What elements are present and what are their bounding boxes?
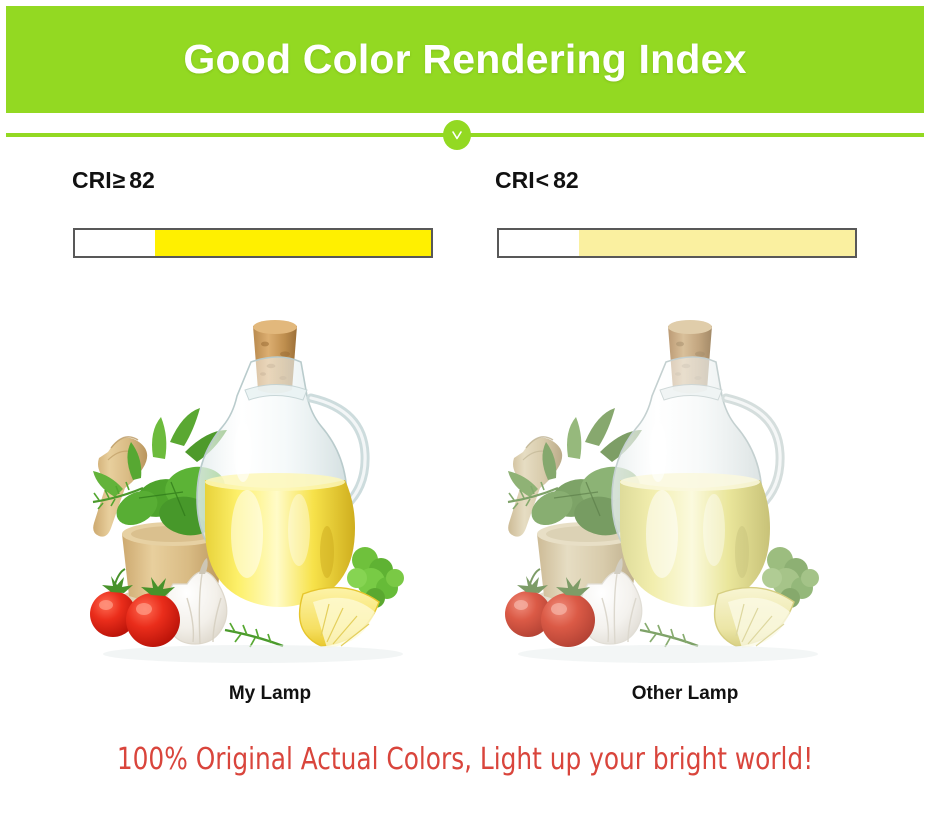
divider-badge xyxy=(443,120,471,150)
section-divider xyxy=(0,133,930,137)
header-banner: Good Color Rendering Index xyxy=(6,6,924,113)
color-bar-fill-segment xyxy=(579,230,855,256)
cri-operator-left: ≥ xyxy=(113,167,126,193)
color-bar-blank-segment xyxy=(499,230,579,256)
caption-other-lamp: Other Lamp xyxy=(490,683,880,705)
cri-prefix-right: CRI xyxy=(495,167,535,193)
product-photo-other-lamp xyxy=(490,302,880,670)
product-photo-my-lamp xyxy=(75,302,465,670)
color-bar-fill-segment xyxy=(155,230,431,256)
cri-prefix-left: CRI xyxy=(72,167,112,193)
cri-label-my-lamp: CRI≥82 xyxy=(72,167,155,194)
color-bar-my-lamp xyxy=(73,228,433,258)
cri-label-other-lamp: CRI<82 xyxy=(495,167,579,194)
cri-value-left: 82 xyxy=(129,167,155,193)
color-bar-other-lamp xyxy=(497,228,857,258)
cri-operator-right: < xyxy=(536,167,549,193)
page-title: Good Color Rendering Index xyxy=(183,36,746,83)
cri-value-right: 82 xyxy=(553,167,579,193)
color-bar-blank-segment xyxy=(75,230,155,256)
caption-my-lamp: My Lamp xyxy=(75,683,465,705)
chevron-down-icon xyxy=(449,127,465,143)
footer-tagline: 100% Original Actual Colors, Light up yo… xyxy=(37,742,893,777)
